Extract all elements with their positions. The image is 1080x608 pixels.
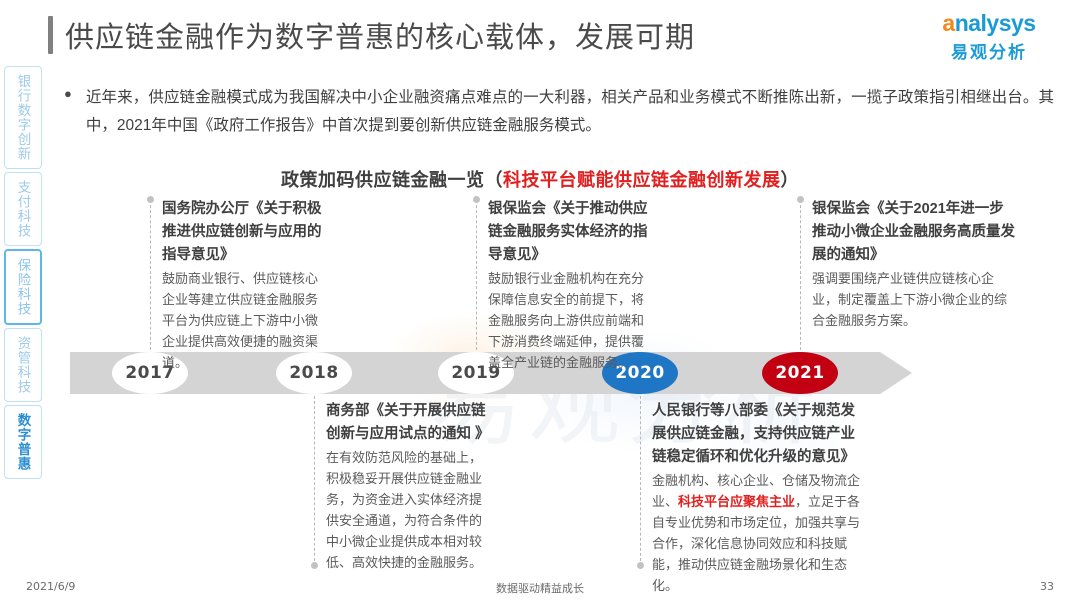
event-card-2020: 人民银行等八部委《关于规范发展供应链金融，支持供应链产业链稳定循环和优化升级的意… [652,400,866,596]
chart-title-main: 政策加码供应链金融一览（ [281,170,503,190]
logo-wordmark-rest: nalysys [955,10,1036,36]
event-card-2019-heading: 银保监会《关于推动供应链金融服务实体经济的指导意见》 [488,198,652,267]
page-footer: 2021/6/9 数据驱动精益成长 33 [0,580,1080,596]
event-card-2017-body: 鼓励商业银行、供应链核心企业等建立供应链金融服务平台为供应链上下游中小微企业提供… [162,268,322,373]
connector-dot-2019 [473,196,480,203]
event-card-2017: 国务院办公厅《关于积极推进供应链创新与应用的指导意见》 鼓励商业银行、供应链核心… [162,198,322,373]
connector-2021 [800,200,801,350]
event-card-2021: 银保监会《关于2021年进一步推动小微企业金融服务高质量发展的通知》 强调要围绕… [812,198,1018,331]
connector-2018 [314,396,315,566]
event-card-2018-heading: 商务部《关于开展供应链创新与应用试点的通知 》 [326,400,490,446]
connector-dot-2018 [311,562,318,569]
footer-page-number: 33 [1040,580,1054,593]
event-card-2019-body: 鼓励银行业金融机构在充分保障信息安全的前提下，将金融服务向上游供应前端和下游消费… [488,268,652,373]
title-accent-bar [48,16,53,54]
timeline-arrow-icon [880,352,912,394]
event-card-2020-body-highlight: 科技平台应聚焦主业 [678,494,795,509]
connector-dot-2021 [797,196,804,203]
event-card-2020-body: 金融机构、核心企业、仓储及物流企业、科技平台应聚焦主业，立足于各自专业优势和市场… [652,470,866,596]
connector-dot-2020 [637,562,644,569]
logo-wordmark: analysys [924,12,1054,35]
connector-dot-2017 [147,196,154,203]
sidebar-item-insurance-tech[interactable]: 保险科技 [4,249,42,325]
connector-2020 [640,396,641,566]
event-card-2018-body: 在有效防范风险的基础上，积极稳妥开展供应链金融业务，为资金进入实体经济提供安全通… [326,447,490,573]
chart-title: 政策加码供应链金融一览（科技平台赋能供应链金融创新发展） [0,166,1080,192]
sidebar-item-bank-digital-innovation[interactable]: 银行数字创新 [4,66,42,169]
chart-title-tail: ） [781,170,800,190]
timeline-node-2021[interactable]: 2021 [762,352,838,394]
page-header: 供应链金融作为数字普惠的核心载体，发展可期 [48,14,695,56]
sidebar-item-asset-management-tech[interactable]: 资管科技 [4,328,42,402]
event-card-2018: 商务部《关于开展供应链创新与应用试点的通知 》 在有效防范风险的基础上，积极稳妥… [326,400,490,573]
event-card-2019: 银保监会《关于推动供应链金融服务实体经济的指导意见》 鼓励银行业金融机构在充分保… [488,198,652,373]
intro-bullet-text: 近年来，供应链金融模式成为我国解决中小企业融资痛点难点的一大利器，相关产品和业务… [86,84,1054,140]
event-card-2021-body: 强调要围绕产业链供应链核心企业，制定覆盖上下游小微企业的综合金融服务方案。 [812,268,1018,331]
logo-letter-a: a [942,10,954,36]
bullet-marker-icon: ● [64,84,72,140]
event-card-2021-heading: 银保监会《关于2021年进一步推动小微企业金融服务高质量发展的通知》 [812,198,1018,267]
sidebar-item-digital-inclusive-finance[interactable]: 数字普惠 [4,405,42,479]
event-card-2017-heading: 国务院办公厅《关于积极推进供应链创新与应用的指导意见》 [162,198,322,267]
connector-2019 [476,200,477,350]
page-title: 供应链金融作为数字普惠的核心载体，发展可期 [65,14,695,56]
logo-subtitle: 易观分析 [924,38,1054,63]
event-card-2020-heading: 人民银行等八部委《关于规范发展供应链金融，支持供应链产业链稳定循环和优化升级的意… [652,400,866,469]
chart-title-highlight: 科技平台赋能供应链金融创新发展 [503,170,781,190]
intro-bullet: ● 近年来，供应链金融模式成为我国解决中小企业融资痛点难点的一大利器，相关产品和… [64,84,1054,140]
footer-tagline: 数据驱动精益成长 [0,580,1080,596]
connector-2017 [150,200,151,350]
sidebar-tabs: 银行数字创新 支付科技 保险科技 资管科技 数字普惠 [4,66,42,482]
analysys-logo: analysys 易观分析 [924,12,1054,63]
